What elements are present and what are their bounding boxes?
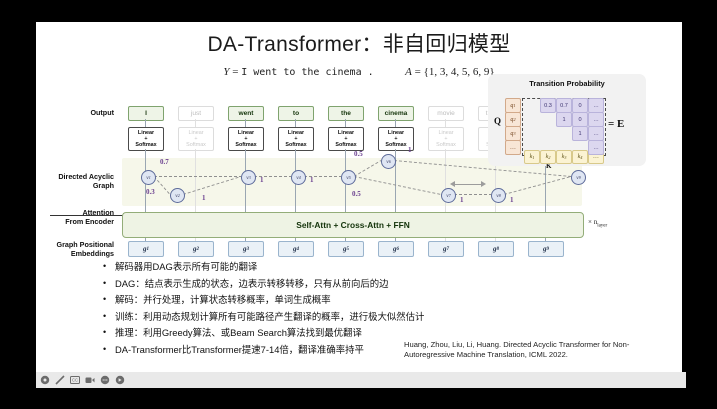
- svg-text:CC: CC: [72, 378, 78, 383]
- encoder-block: Self-Attn + Cross-Attn + FFN: [122, 212, 584, 238]
- matrix-cell: 0.7: [556, 98, 572, 113]
- bullet-item: DAG：结点表示生成的状态，边表示转移转移，只有从前向后的边: [102, 279, 602, 289]
- n-layer-label: × nlayer: [588, 218, 607, 228]
- dag-node: v5: [341, 170, 356, 185]
- dag-edge-weight: 0.3: [146, 188, 155, 196]
- dag-node: v3: [241, 170, 256, 185]
- dag-edge-weight: 1: [460, 196, 464, 204]
- transition-panel-title: Transition Probability: [488, 79, 646, 88]
- formula-eq-1: =: [232, 66, 238, 78]
- query-cell: q3: [505, 126, 521, 141]
- dag-edge-weight: 0.5: [352, 190, 361, 198]
- dag-node: v7: [441, 188, 456, 203]
- bullet-item: 解码：并行处理，计算状态转移概率，单词生成概率: [102, 295, 602, 305]
- query-cell: q1: [505, 98, 521, 113]
- key-cell: k2: [540, 150, 556, 164]
- dag-edge-weight: 1: [260, 176, 264, 184]
- dag-node: v6: [381, 154, 396, 169]
- dag-edge-weight: 1: [408, 146, 412, 154]
- player-toolbar[interactable]: CC: [36, 372, 686, 388]
- formula-y-label: Y: [223, 66, 229, 78]
- key-cell: k3: [556, 150, 572, 164]
- bullet-item: 解码器用DAG表示所有可能的翻译: [102, 262, 602, 272]
- dag-node: v2: [170, 188, 185, 203]
- video-camera-icon[interactable]: [85, 375, 95, 385]
- video-player-viewport: DA-Transformer：非自回归模型 Y = I went to the …: [0, 0, 717, 409]
- matrix-cell: 0: [572, 112, 588, 127]
- n-layer-subscript: layer: [597, 223, 607, 228]
- equals-e-label: = E: [608, 118, 624, 130]
- dag-edge-weight: 1: [310, 176, 314, 184]
- dag-edge-weight: 1: [202, 194, 206, 202]
- dag-node: v1: [141, 170, 156, 185]
- dag-edge-weight: 0.5: [354, 150, 363, 158]
- closed-caption-icon[interactable]: CC: [70, 375, 80, 385]
- page-title: DA-Transformer：非自回归模型: [36, 28, 682, 58]
- more-options-icon[interactable]: [100, 375, 110, 385]
- pen-icon[interactable]: [55, 375, 65, 385]
- encoder-attention-arrow: [50, 215, 124, 216]
- dag-matrix-link-arrow: [454, 184, 482, 185]
- q-label: Q: [494, 116, 501, 126]
- formula-eq-2: =: [415, 66, 421, 78]
- matrix-cell: …: [588, 126, 604, 141]
- settings-icon[interactable]: [40, 375, 50, 385]
- transition-probability-panel: Transition Probability Q K = E q1q2q3… k…: [488, 74, 646, 166]
- slide-canvas: DA-Transformer：非自回归模型 Y = I went to the …: [36, 22, 682, 372]
- bullet-item: 推理：利用Greedy算法、或Beam Search算法找到最优翻译: [102, 328, 602, 338]
- key-cell: k4: [572, 150, 588, 164]
- query-cell: …: [505, 140, 521, 155]
- dag-node: v9: [571, 170, 586, 185]
- formula-y-value: I went to the cinema .: [241, 67, 373, 78]
- fullscreen-icon[interactable]: [115, 375, 125, 385]
- matrix-cell: 1: [572, 126, 588, 141]
- dag-edge-weight: 0.7: [160, 158, 169, 166]
- query-cell: q2: [505, 112, 521, 127]
- bullet-item: 训练：利用动态规划计算所有可能路径产生翻译的概率，进行极大似然估计: [102, 312, 602, 322]
- key-cell: k1: [524, 150, 540, 164]
- citation: Huang, Zhou, Liu, Li, Huang. Directed Ac…: [404, 340, 672, 360]
- dag-node: v4: [291, 170, 306, 185]
- n-layer-text: × n: [588, 218, 597, 226]
- matrix-cell: …: [588, 140, 604, 155]
- dag-edge-weight: 1: [510, 196, 514, 204]
- matrix-cell: …: [588, 98, 604, 113]
- matrix-cell: 0: [572, 98, 588, 113]
- dag-node: v8: [491, 188, 506, 203]
- matrix-cell: …: [588, 112, 604, 127]
- matrix-cell: 1: [556, 112, 572, 127]
- matrix-cell: 0.3: [540, 98, 556, 113]
- formula-a-label: A: [405, 66, 412, 78]
- formula-a-value: {1, 3, 4, 5, 6, 9}: [424, 66, 495, 78]
